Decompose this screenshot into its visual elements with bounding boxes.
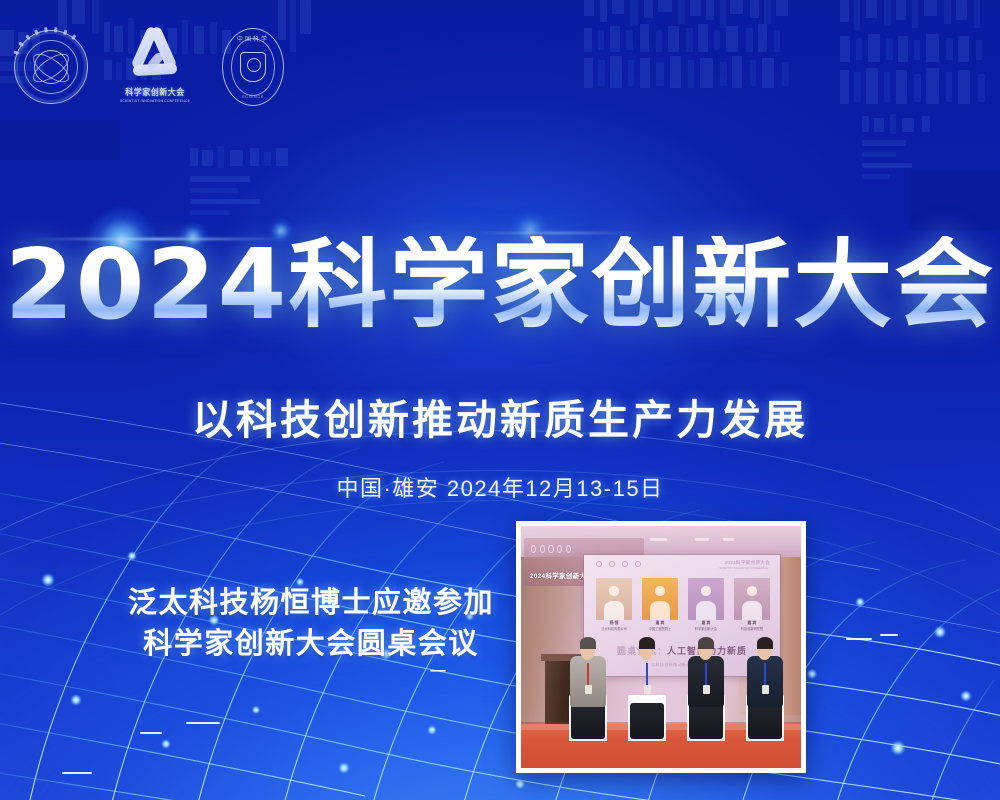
- photo-panelists: [563, 635, 790, 741]
- triangle-mark-logo: 科学家创新大会 SCIENTIST INNOVATION CONFERENCE: [122, 28, 188, 106]
- speaker-card: 杨 恒 泛太科技有限公司: [596, 578, 633, 636]
- triangle-logo-subcaption: SCIENTIST INNOVATION CONFERENCE: [120, 99, 190, 103]
- screen-logo-icons: [596, 561, 641, 567]
- science-academy-seal-logo: [14, 30, 88, 104]
- screen-header-title: 2024科学家创新大会: [725, 560, 771, 566]
- speaker-portrait: [688, 578, 725, 620]
- seal-inner-ring: [24, 40, 78, 94]
- panelist: [740, 635, 790, 741]
- speaker-label: 嘉 宾 科技创新研究院: [741, 621, 763, 631]
- oval-seal-icon: 中国科学 SCIENCE: [222, 28, 284, 106]
- circular-seal-icon: [14, 30, 88, 104]
- roundtable-panel-photo: 2024科学家创新大会 2024科学家创新大会 SCIENTIST INNOVA…: [516, 521, 806, 773]
- screen-speaker-cards: 杨 恒 泛太科技有限公司 嘉 宾 中国工程院院士: [596, 578, 770, 636]
- speaker-portrait: [642, 578, 679, 620]
- screen-icon-4: [635, 561, 641, 567]
- caption-line-2: 科学家创新大会圆桌会议: [128, 624, 494, 665]
- speaker-portrait: [734, 578, 771, 620]
- oval-institute-seal-logo: 中国科学 SCIENCE: [222, 28, 284, 106]
- oval-seal-inner: [231, 38, 275, 96]
- conference-poster: 科学家创新大会 SCIENTIST INNOVATION CONFERENCE …: [0, 0, 1000, 800]
- photo-content: 2024科学家创新大会 2024科学家创新大会 SCIENTIST INNOVA…: [521, 526, 801, 768]
- main-title-block: 2024科学家创新大会: [0, 236, 1000, 335]
- banner-icon-5: [566, 545, 571, 553]
- triangle-a-icon: [125, 28, 185, 82]
- atom-icon: [34, 50, 68, 84]
- page-title: 2024科学家创新大会: [0, 236, 1000, 335]
- speaker-org: 泛太科技有限公司: [601, 627, 627, 631]
- banner-icon-1: [531, 545, 536, 553]
- speaker-portrait: [596, 578, 633, 620]
- speaker-card: 嘉 宾 科学家创新大会: [688, 578, 725, 636]
- triangle-logo-caption: 科学家创新大会: [125, 87, 185, 99]
- banner-icon-3: [548, 545, 553, 553]
- speaker-label: 嘉 宾 科学家创新大会: [695, 621, 717, 631]
- date-location-line: 中国·雄安 2024年12月13-15日: [0, 471, 1000, 503]
- event-caption: 泛太科技杨恒博士应邀参加 科学家创新大会圆桌会议: [128, 583, 494, 665]
- speaker-label: 嘉 宾 中国工程院院士: [649, 621, 671, 631]
- banner-icon-2: [540, 545, 545, 553]
- screen-header-subtitle: SCIENTIST INNOVATION CONFERENCE: [719, 567, 768, 570]
- speaker-org: 科学家创新大会: [695, 627, 717, 631]
- speaker-org: 中国工程院院士: [649, 627, 671, 631]
- speaker-label: 杨 恒 泛太科技有限公司: [601, 621, 627, 631]
- shield-icon: [240, 52, 266, 82]
- oval-seal-bottom-text: SCIENCE: [223, 94, 283, 99]
- banner-icon-4: [557, 545, 562, 553]
- panelist: [681, 635, 731, 741]
- logo-row: 科学家创新大会 SCIENTIST INNOVATION CONFERENCE …: [14, 28, 284, 106]
- screen-icon-2: [609, 561, 615, 567]
- banner-logo-icons: [531, 545, 571, 553]
- panelist: [622, 635, 672, 741]
- speaker-org: 科技创新研究院: [741, 627, 763, 631]
- caption-line-1: 泛太科技杨恒博士应邀参加: [128, 587, 494, 619]
- panelist: [563, 635, 613, 741]
- speaker-card: 嘉 宾 中国工程院院士: [642, 578, 679, 636]
- screen-icon-1: [596, 561, 602, 567]
- screen-icon-3: [622, 561, 628, 567]
- speaker-card: 嘉 宾 科技创新研究院: [734, 578, 771, 636]
- subtitle: 以科技创新推动新质生产力发展: [0, 386, 1000, 446]
